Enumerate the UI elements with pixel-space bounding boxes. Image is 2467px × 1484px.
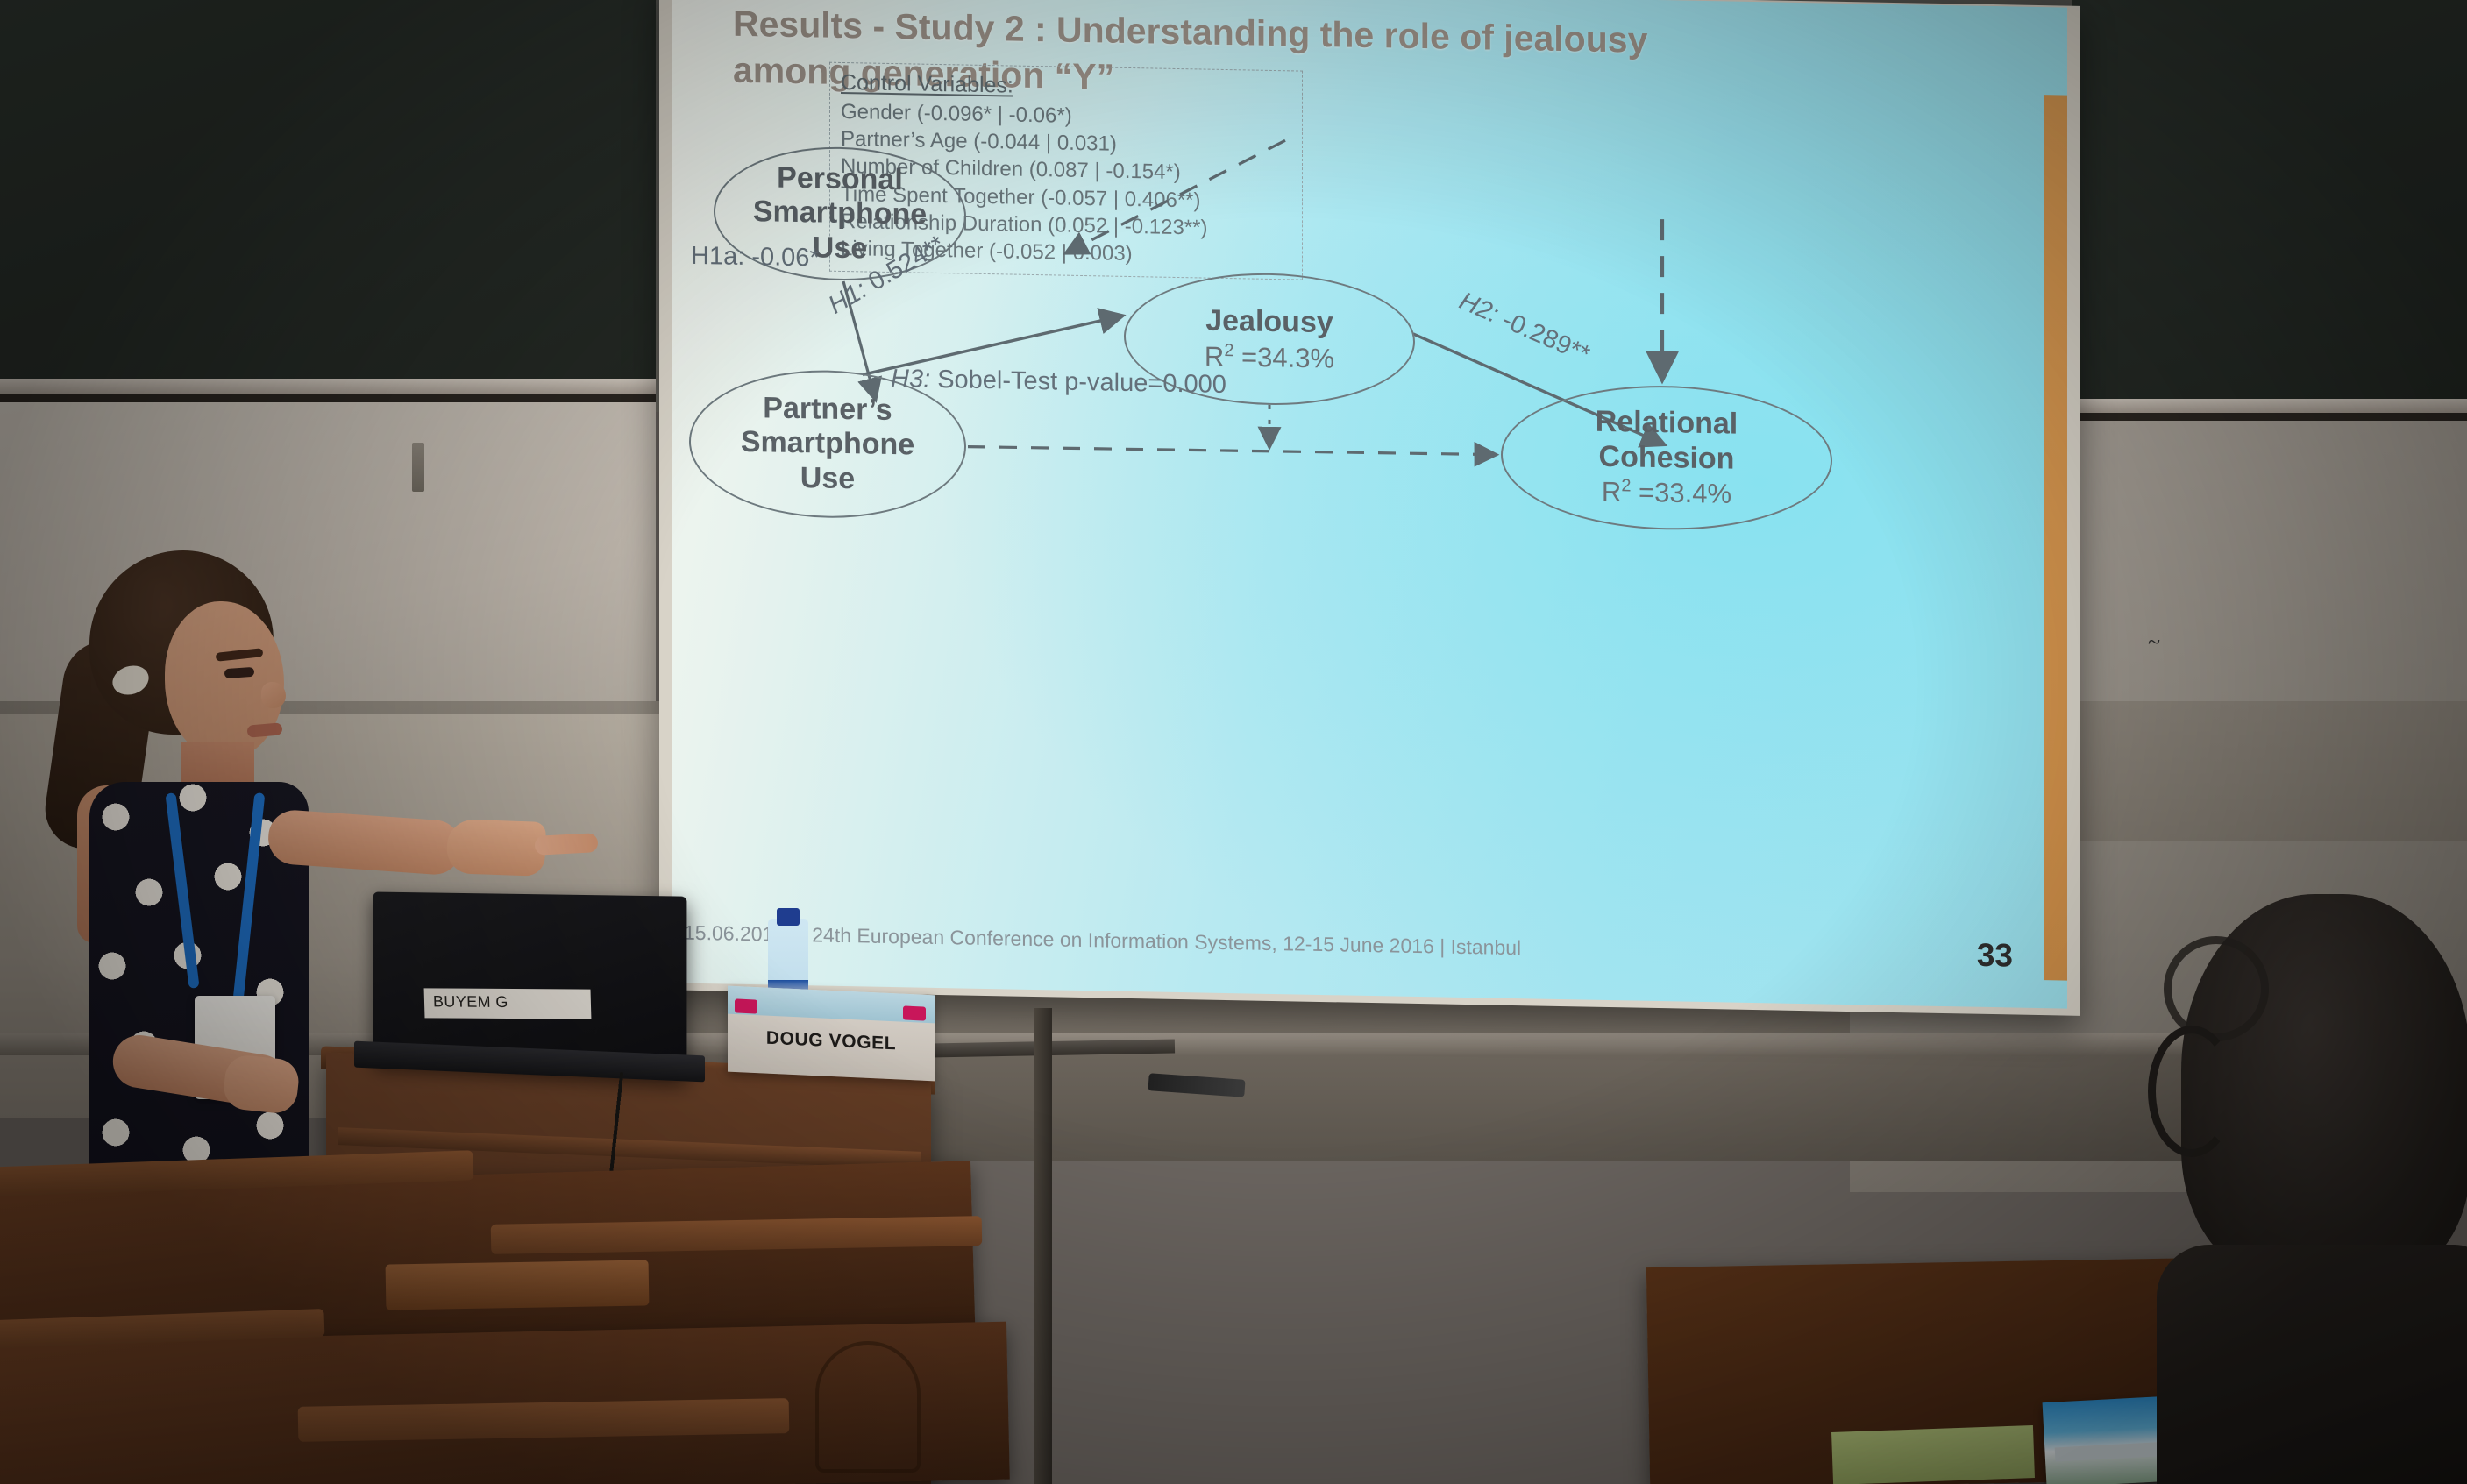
board-shadow-right	[2072, 413, 2467, 421]
chalkboard-left	[0, 0, 656, 379]
node-psu-line3: Use	[813, 231, 867, 265]
attendee-foreground	[2165, 894, 2467, 1484]
r2-exponent: 2	[1224, 341, 1233, 360]
green-paper-on-desk	[1831, 1425, 2035, 1484]
chalkboard-right	[2072, 0, 2467, 399]
bottle-cap	[777, 908, 800, 926]
presenter-pointing-finger	[534, 833, 598, 856]
slide-page-number: 33	[1977, 937, 2013, 975]
chalk-rail-right	[2072, 399, 2467, 413]
presenter-nose	[261, 682, 286, 708]
r2-value: =33.4%	[1631, 477, 1731, 509]
node-psu-line2: Smartphone	[753, 195, 927, 231]
placard-logo-left-icon	[735, 998, 757, 1013]
node-jealousy-r2: R2 =34.3%	[1205, 340, 1334, 374]
board-shadow-left	[0, 394, 656, 402]
presenter-mouth	[246, 722, 282, 737]
laptop-label: BUYEM G	[424, 988, 592, 1019]
whiteboard-mark: ~	[2148, 629, 2183, 649]
presenter-lower-hand	[222, 1054, 301, 1115]
node-ptsu-line1: Partner’s	[763, 391, 892, 427]
attendee-hair-curl	[2148, 1026, 2236, 1157]
r2-value: =34.3%	[1233, 341, 1334, 373]
h3-value: Sobel-Test p-value=0.000	[930, 366, 1226, 399]
whiteboard-clip	[412, 443, 424, 492]
projection-screen: Results - Study 2 : Understanding the ro…	[672, 0, 2067, 1009]
node-ptsu-line2: Smartphone	[741, 425, 914, 462]
node-psu-line1: Personal	[777, 160, 903, 196]
r2-r: R	[1205, 340, 1224, 371]
node-relational-cohesion-r2: R2 =33.4%	[1602, 476, 1731, 510]
r2-r: R	[1602, 476, 1621, 507]
bench-writing-surface	[386, 1260, 650, 1310]
edge-label-h3: H3: Sobel-Test p-value=0.000	[891, 365, 1226, 400]
edge-label-h1a: H1a: -0.06*	[691, 242, 820, 273]
edge-h3	[968, 445, 1494, 457]
node-jealousy-label: Jealousy	[1205, 304, 1333, 341]
node-rc-line1: Relational	[1596, 405, 1738, 441]
placard-logo-right-icon	[903, 1005, 926, 1020]
chalk-rail-left	[0, 379, 656, 394]
presenter-pointing-hand	[446, 819, 546, 877]
bench-iron-scrollwork	[815, 1341, 921, 1473]
attendee-hair-curl	[2164, 936, 2269, 1041]
lecture-hall-photo: ~ Results - Study 2 : Understanding the …	[0, 0, 2467, 1484]
node-rc-line2: Cohesion	[1599, 440, 1735, 476]
r2-exponent: 2	[1621, 477, 1631, 496]
attendee-shoulder	[2157, 1245, 2467, 1484]
screen-stand-leg	[1034, 1008, 1052, 1484]
presenter-eye	[224, 667, 255, 678]
node-ptsu-line3: Use	[800, 461, 855, 495]
h3-prefix: H3:	[891, 365, 930, 394]
presentation-slide: Results - Study 2 : Understanding the ro…	[672, 0, 2067, 1009]
path-diagram: Personal Smartphone Use Partner’s Smartp…	[672, 0, 2067, 1009]
edge-controls-jealousy	[1068, 137, 1285, 257]
